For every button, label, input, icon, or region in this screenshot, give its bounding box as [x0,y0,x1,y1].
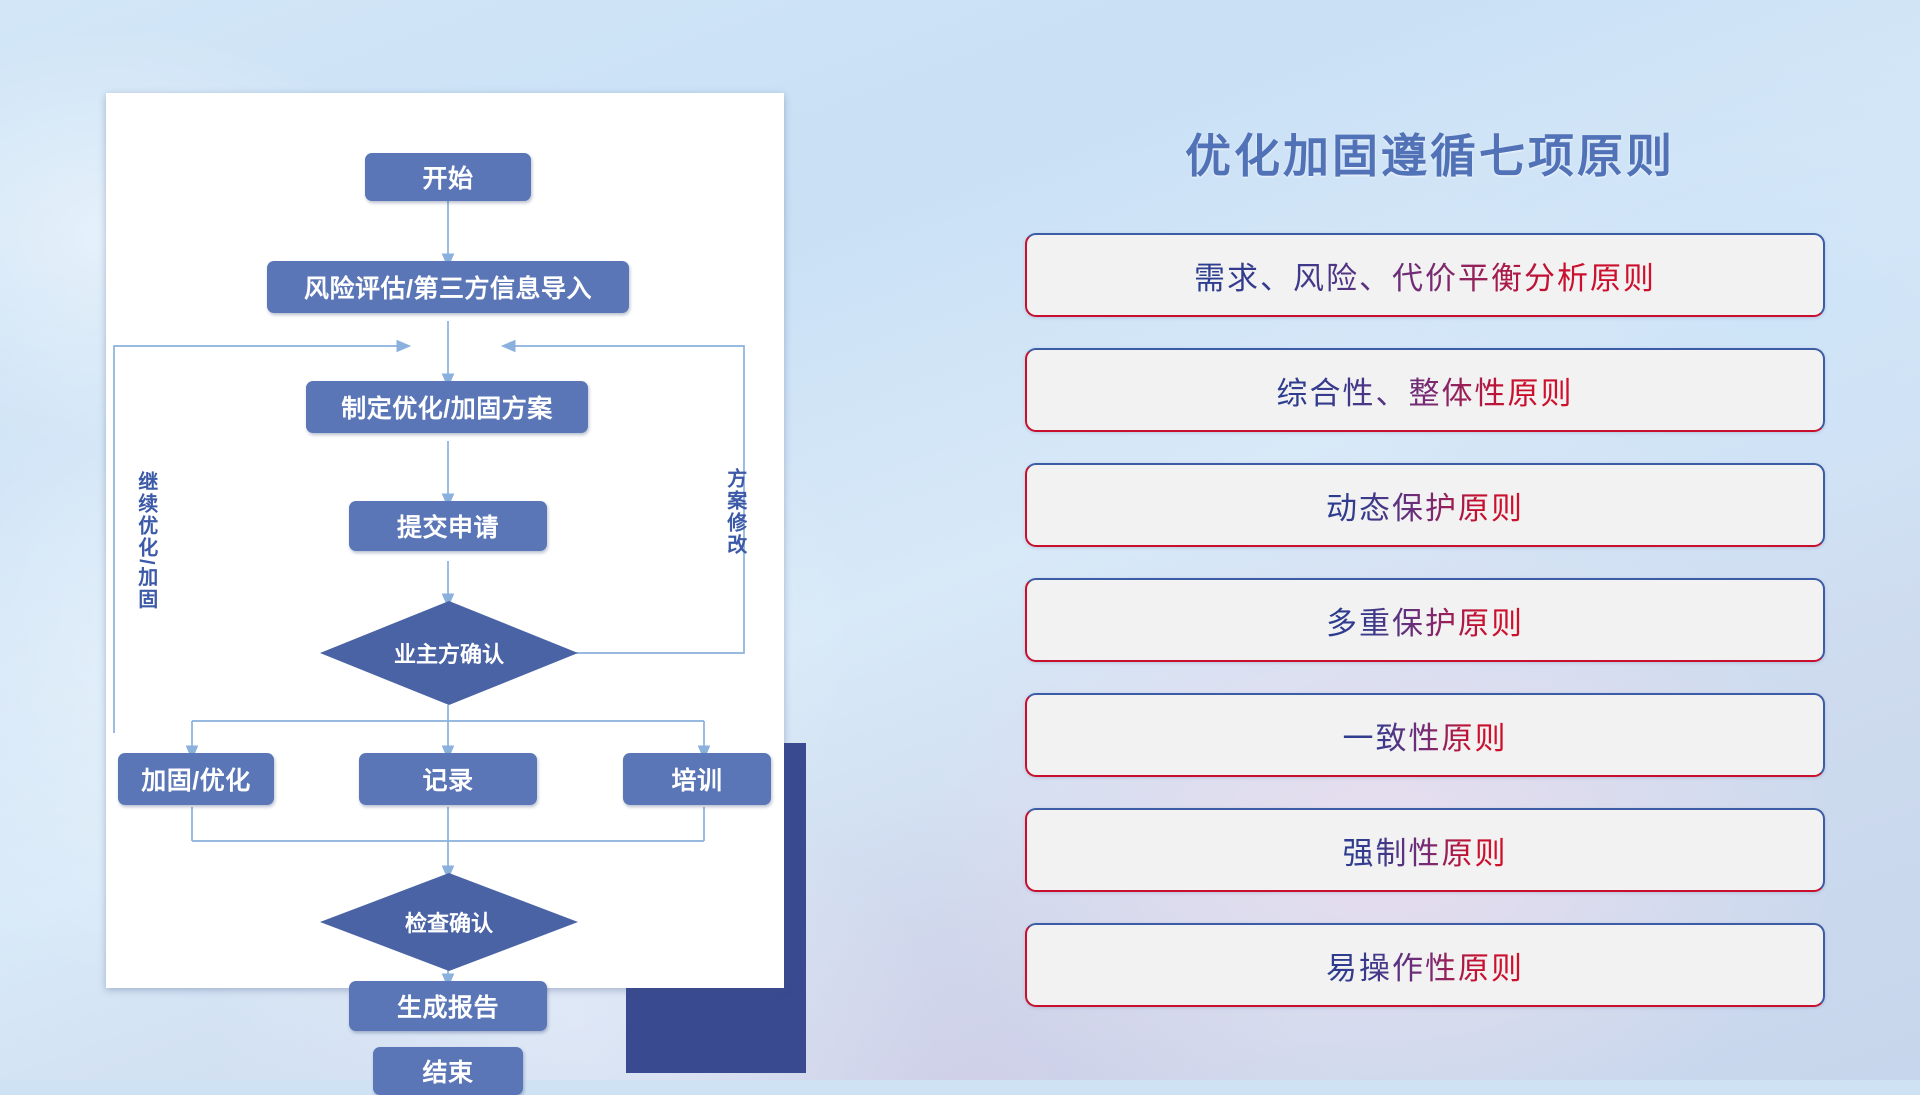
flow-node-start[interactable]: 开始 [365,153,531,201]
principles-list: 需求、风险、代价平衡分析原则 综合性、整体性原则 动态保护原则 多重保护原则 一… [1025,233,1825,1038]
loop-label-plan-revision: 方案修改 [724,468,745,556]
flow-node-report[interactable]: 生成报告 [349,981,547,1031]
principle-card[interactable]: 易操作性原则 [1025,923,1825,1007]
principle-card[interactable]: 综合性、整体性原则 [1025,348,1825,432]
principle-card[interactable]: 一致性原则 [1025,693,1825,777]
flow-node-plan[interactable]: 制定优化/加固方案 [306,381,588,433]
flow-node-label: 检查确认 [405,906,493,938]
principle-label: 易操作性原则 [1326,943,1524,988]
flow-node-submit[interactable]: 提交申请 [349,501,547,551]
principle-label: 强制性原则 [1343,828,1508,873]
flow-node-label: 记录 [422,761,473,797]
flow-node-reinforce[interactable]: 加固/优化 [118,753,274,805]
flow-node-label: 培训 [671,761,722,797]
flow-node-end[interactable]: 结束 [373,1047,523,1095]
principle-card[interactable]: 多重保护原则 [1025,578,1825,662]
loop-label-continue-optimize: 继续优化/加固 [135,471,156,611]
flow-node-label: 生成报告 [397,988,499,1024]
principle-label: 多重保护原则 [1326,598,1524,643]
flowchart-card: 开始 风险评估/第三方信息导入 制定优化/加固方案 提交申请 业主方确认 加固/… [106,93,784,988]
flow-decision-owner-confirm[interactable]: 业主方确认 [320,601,578,705]
flow-node-label: 结束 [422,1053,473,1089]
principles-panel: 优化加固遵循七项原则 需求、风险、代价平衡分析原则 综合性、整体性原则 动态保护… [1015,60,1845,1050]
flow-node-label: 开始 [422,159,473,195]
flow-decision-check-confirm[interactable]: 检查确认 [320,873,578,971]
principle-label: 需求、风险、代价平衡分析原则 [1194,253,1656,298]
principle-card[interactable]: 需求、风险、代价平衡分析原则 [1025,233,1825,317]
flow-node-label: 业主方确认 [394,637,504,669]
flow-node-label: 制定优化/加固方案 [341,389,552,425]
flow-node-label: 提交申请 [397,508,499,544]
flow-node-label: 加固/优化 [141,761,250,797]
principle-label: 综合性、整体性原则 [1277,368,1574,413]
principle-card[interactable]: 强制性原则 [1025,808,1825,892]
flow-node-training[interactable]: 培训 [623,753,771,805]
principle-label: 一致性原则 [1343,713,1508,758]
flow-node-risk-assessment[interactable]: 风险评估/第三方信息导入 [267,261,629,313]
panel-title: 优化加固遵循七项原则 [1015,120,1845,186]
principle-label: 动态保护原则 [1326,483,1524,528]
flow-node-label: 风险评估/第三方信息导入 [304,269,592,305]
flow-node-record[interactable]: 记录 [359,753,537,805]
flowchart-region: 开始 风险评估/第三方信息导入 制定优化/加固方案 提交申请 业主方确认 加固/… [106,93,796,993]
principle-card[interactable]: 动态保护原则 [1025,463,1825,547]
